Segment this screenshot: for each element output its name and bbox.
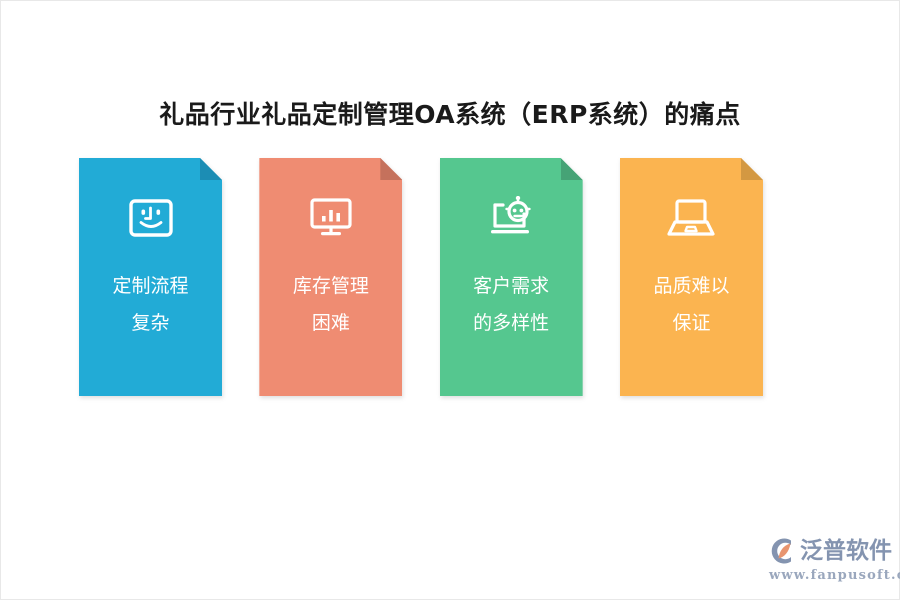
- face-window-icon: [79, 190, 222, 246]
- card-text-line-1: 定制流程: [79, 268, 222, 305]
- card-text-line-2: 的多样性: [440, 305, 583, 342]
- pain-point-card-inventory[interactable]: 库存管理 困难: [259, 158, 402, 396]
- pain-point-card-quality[interactable]: 品质难以 保证: [620, 158, 763, 396]
- card-folded-corner: [200, 158, 222, 180]
- card-text-line-2: 复杂: [79, 305, 222, 342]
- pain-point-card-list: 定制流程 复杂 库存管理 困难: [79, 158, 763, 398]
- logo-url: www.fanpusoft.com: [769, 568, 900, 583]
- pain-point-card-custom-process[interactable]: 定制流程 复杂: [79, 158, 222, 396]
- card-text: 品质难以 保证: [620, 268, 763, 342]
- card-text-line-2: 保证: [620, 305, 763, 342]
- card-folded-corner: [380, 158, 402, 180]
- card-text-line-2: 困难: [259, 305, 402, 342]
- laptop-robot-icon: [440, 190, 583, 246]
- card-text: 客户需求 的多样性: [440, 268, 583, 342]
- card-folded-corner: [561, 158, 583, 180]
- monitor-bar-chart-icon: [259, 190, 402, 246]
- laptop-icon: [620, 190, 763, 246]
- page-title: 礼品行业礼品定制管理OA系统（ERP系统）的痛点: [0, 95, 900, 131]
- card-folded-corner: [741, 158, 763, 180]
- card-text-line-1: 库存管理: [259, 268, 402, 305]
- logo-name: 泛普软件: [800, 537, 892, 565]
- card-text-line-1: 品质难以: [620, 268, 763, 305]
- card-text: 库存管理 困难: [259, 268, 402, 342]
- brand-logo: 泛普软件 www.fanpusoft.com: [767, 536, 889, 588]
- logo-row: 泛普软件: [767, 536, 892, 566]
- fanpu-circle-logo-icon: [767, 536, 797, 566]
- pain-point-card-customer-demand[interactable]: 客户需求 的多样性: [440, 158, 583, 396]
- card-text: 定制流程 复杂: [79, 268, 222, 342]
- card-text-line-1: 客户需求: [440, 268, 583, 305]
